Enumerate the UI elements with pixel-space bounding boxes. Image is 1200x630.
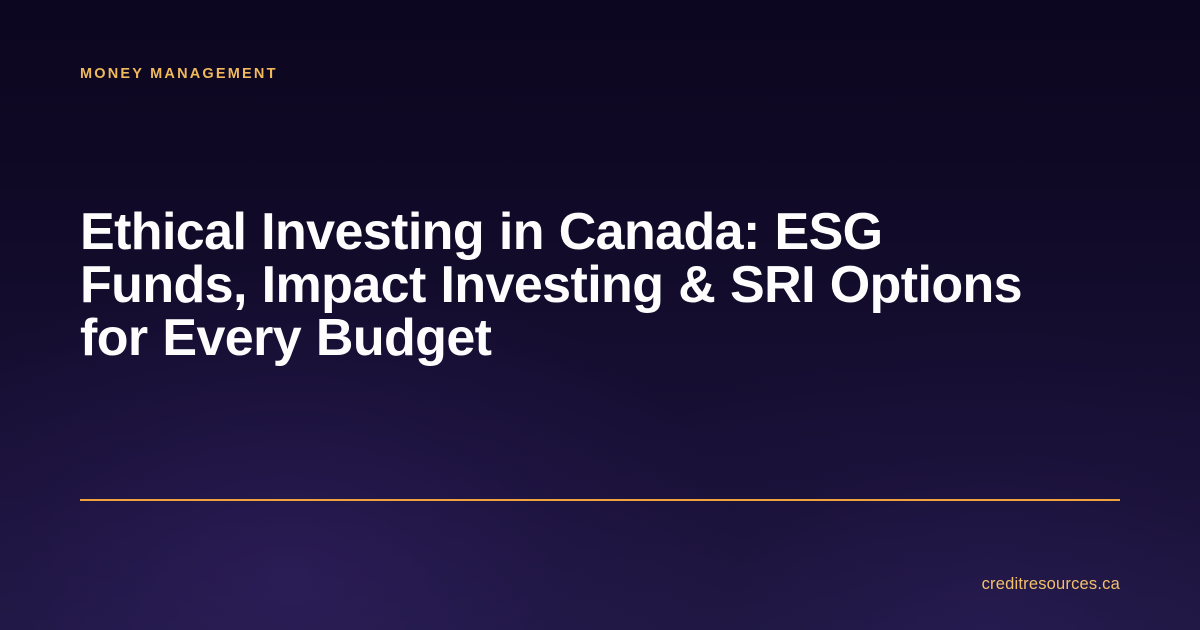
page-title: Ethical Investing in Canada: ESG Funds, … bbox=[80, 206, 1060, 365]
social-share-card: MONEY MANAGEMENT Ethical Investing in Ca… bbox=[0, 0, 1200, 630]
accent-divider bbox=[80, 499, 1120, 501]
site-domain: creditresources.ca bbox=[982, 572, 1120, 596]
card-content: MONEY MANAGEMENT Ethical Investing in Ca… bbox=[0, 0, 1200, 630]
category-kicker: MONEY MANAGEMENT bbox=[80, 64, 278, 84]
